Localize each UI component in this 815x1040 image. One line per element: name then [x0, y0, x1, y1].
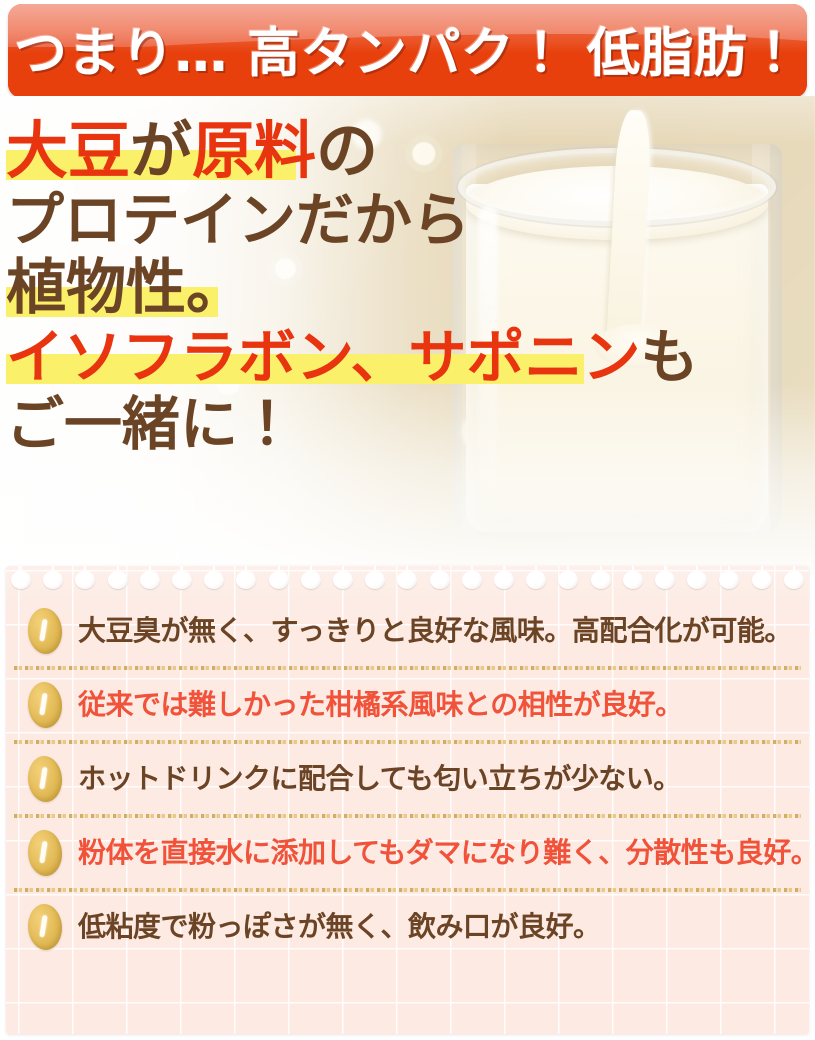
headline-segment: イソフラボン、サポニン	[6, 323, 641, 391]
perforation-hole	[622, 566, 644, 587]
soybean-bullet-icon	[26, 903, 63, 951]
headline-segment: 大豆	[6, 114, 130, 187]
perforation-hole	[107, 566, 129, 587]
list-item: ホットドリンクに配合しても匂い立ちが少ない。	[6, 744, 809, 814]
headline-segment: 原料	[192, 114, 316, 187]
perforation-hole	[461, 566, 483, 587]
soybean-bullet-icon	[26, 681, 63, 729]
perforation-hole	[396, 566, 418, 587]
perforation-hole	[557, 566, 579, 587]
perforation-hole	[203, 566, 225, 587]
soybean-bullet-icon	[26, 755, 63, 803]
perforation-hole	[654, 566, 676, 587]
perforation-hole	[235, 566, 257, 587]
feature-list-panel: 大豆臭が無く、すっきりと良好な風味。高配合化が可能。従来では難しかった柑橘系風味…	[6, 566, 809, 1034]
headline-line: 植物性。	[6, 257, 646, 321]
headline-banner: つまり… 高タンパク！ 低脂肪！	[8, 4, 807, 98]
soybean-bullet-icon	[26, 829, 63, 877]
headline-line: プロテインだから	[6, 190, 646, 251]
list-item: 粉体を直接水に添加してもダマになり難く、分散性も良好。	[6, 818, 809, 888]
headline-line: 大豆が原料の	[6, 118, 646, 184]
soybean-bullet-icon	[26, 607, 63, 655]
perforation-hole	[686, 566, 708, 587]
list-item-label: 従来では難しかった柑橘系風味との相性が良好。	[78, 691, 683, 719]
perforation-hole	[300, 566, 322, 587]
headline-copy: 大豆が原料のプロテインだから植物性。イソフラボン、サポニンもご一緒に！	[6, 118, 646, 462]
perforation-hole	[493, 566, 515, 587]
perforation-hole	[171, 566, 193, 587]
perforation-hole	[751, 566, 773, 587]
headline-line: イソフラボン、サポニンも	[6, 327, 646, 388]
perforation-hole	[42, 566, 64, 587]
feature-list: 大豆臭が無く、すっきりと良好な風味。高配合化が可能。従来では難しかった柑橘系風味…	[6, 596, 809, 962]
perforation-hole	[783, 566, 805, 587]
list-item-label: 粉体を直接水に添加してもダマになり難く、分散性も良好。	[78, 839, 809, 867]
promo-poster: つまり… 高タンパク！ 低脂肪！ 大豆が原料のプロテインだから植物性。イソフラボ…	[0, 0, 815, 1040]
perforation-hole	[332, 566, 354, 587]
perforation-hole	[429, 566, 451, 587]
headline-segment: プロテインだから	[6, 186, 470, 254]
perforation-hole	[590, 566, 612, 587]
perforation-hole	[74, 566, 96, 587]
banner-text: つまり… 高タンパク！ 低脂肪！	[8, 4, 807, 98]
headline-segment: の	[316, 114, 378, 187]
perforation-hole	[364, 566, 386, 587]
list-item: 従来では難しかった柑橘系風味との相性が良好。	[6, 670, 809, 740]
perforation-hole	[139, 566, 161, 587]
headline-segment: 植物性。	[6, 253, 246, 323]
perforation-hole	[525, 566, 547, 587]
headline-line: ご一緒に！	[6, 394, 646, 455]
list-item-label: ホットドリンクに配合しても匂い立ちが少ない。	[78, 765, 681, 793]
headline-segment: も	[641, 323, 699, 391]
notebook-perforation	[6, 566, 809, 591]
headline-segment: ご一緒に！	[6, 390, 296, 458]
perforation-hole	[268, 566, 290, 587]
perforation-hole	[10, 566, 32, 587]
list-item-label: 大豆臭が無く、すっきりと良好な風味。高配合化が可能。	[78, 617, 792, 645]
list-item-label: 低粘度で粉っぽさが無く、飲み口が良好。	[78, 913, 601, 941]
headline-segment: が	[130, 114, 192, 187]
list-item: 大豆臭が無く、すっきりと良好な風味。高配合化が可能。	[6, 596, 809, 666]
list-item: 低粘度で粉っぽさが無く、飲み口が良好。	[6, 892, 809, 962]
perforation-hole	[718, 566, 740, 587]
